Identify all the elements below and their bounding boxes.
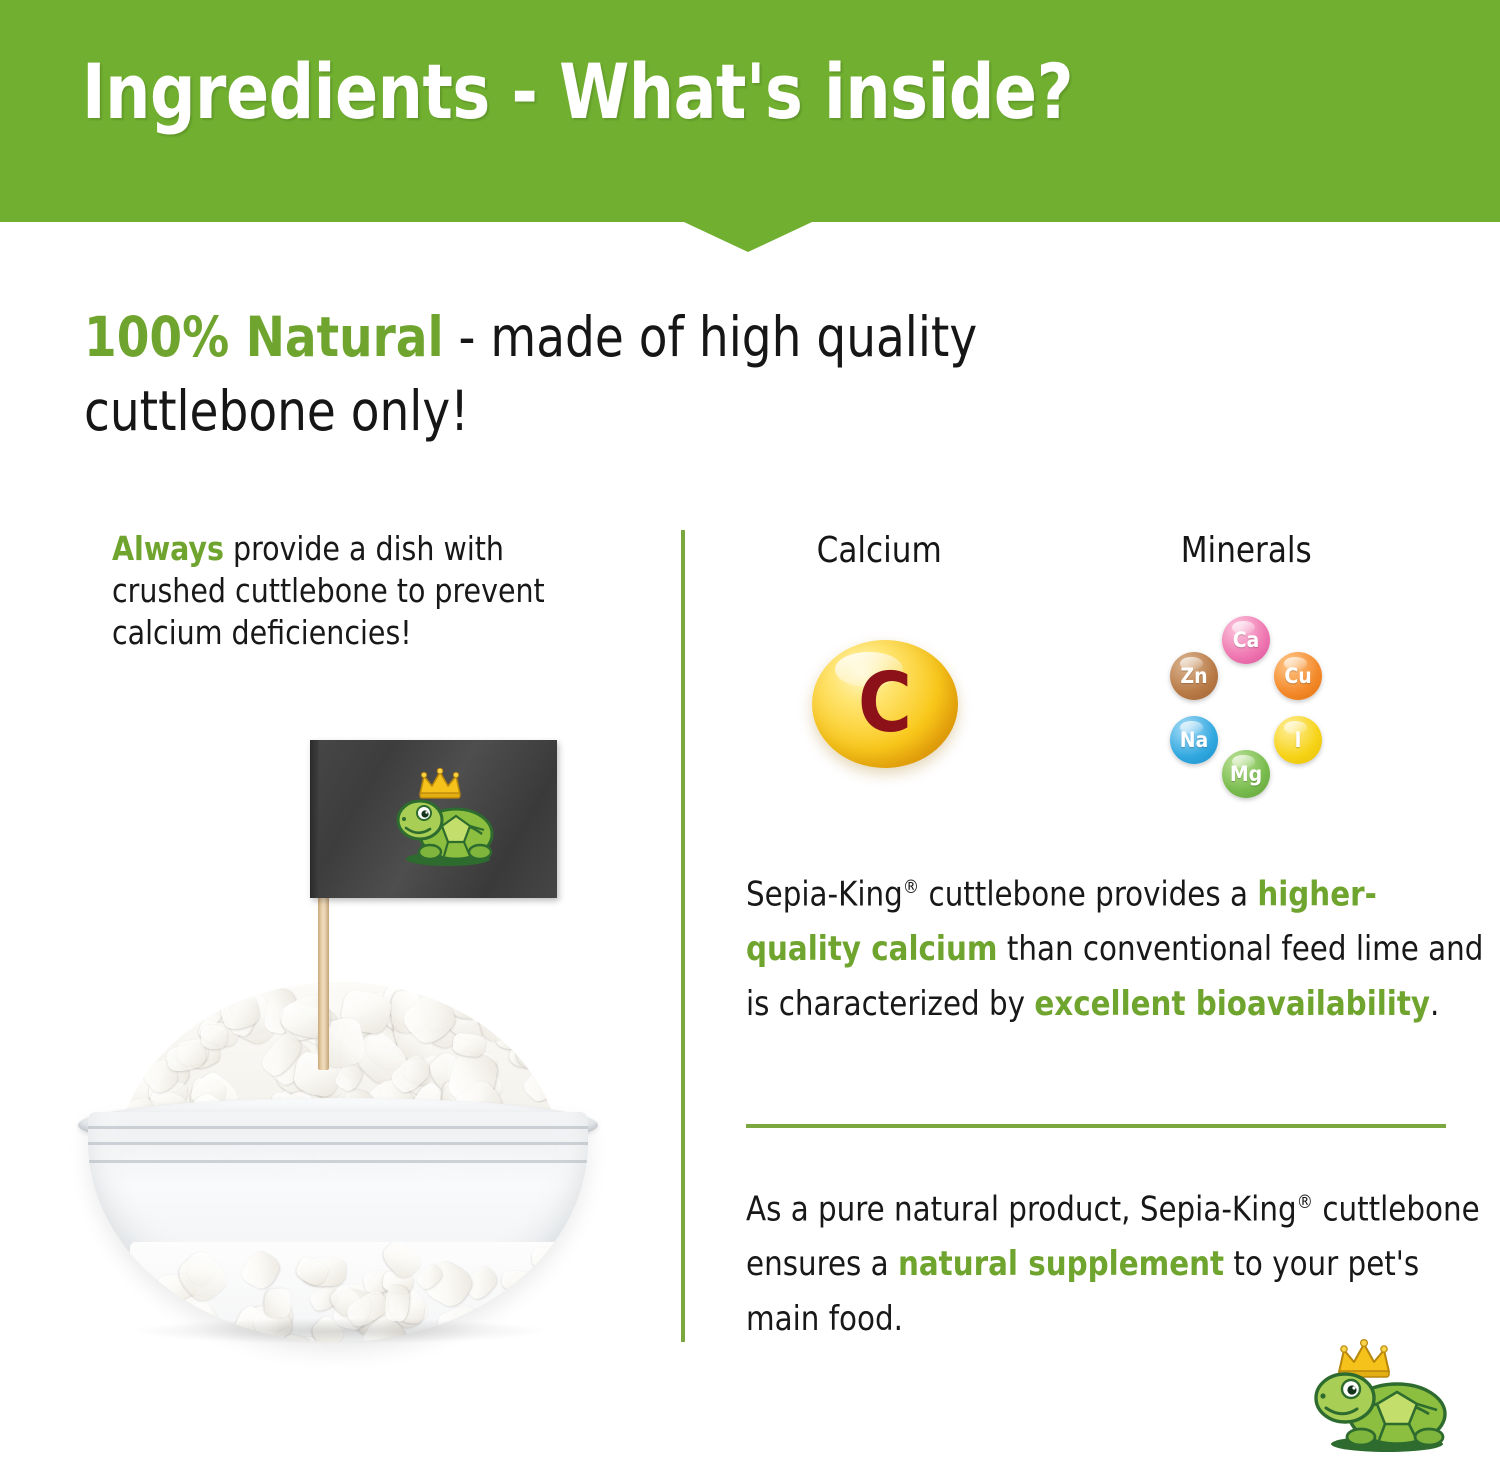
mineral-bubble-mg: Mg (1222, 750, 1270, 798)
calcium-label: Calcium (817, 530, 942, 571)
mineral-bubble-i: I (1274, 716, 1322, 764)
headline-accent: 100% Natural (84, 305, 444, 369)
right-column-divider (746, 1124, 1446, 1128)
column-divider (681, 530, 685, 1342)
mineral-bubble-ca: Ca (1222, 616, 1270, 664)
left-note-text: Always provide a dish with crushed cuttl… (112, 528, 611, 654)
calcium-pill-icon: C (812, 640, 958, 768)
header-banner: Ingredients - What's inside? (0, 0, 1500, 222)
header-notch-triangle (684, 222, 812, 252)
bowl-glass (88, 1112, 588, 1342)
right-column: Calcium Minerals C Ca Zn Cu Na I Mg Sepi… (716, 520, 1476, 810)
bowl-shadow (130, 1318, 550, 1344)
para-quality-part4: . (1430, 984, 1439, 1024)
flag-turtle-icon (390, 764, 500, 872)
left-column: Always provide a dish with crushed cuttl… (112, 528, 632, 654)
left-note-accent: Always (112, 529, 224, 568)
brand-flag (310, 740, 557, 898)
registered-mark: ® (1297, 1191, 1313, 1213)
mineral-bubble-zn: Zn (1170, 652, 1218, 700)
headline: 100% Natural - made of high quality cutt… (84, 300, 1167, 448)
para-supp-part1: As a pure natural product, Sepia-King (746, 1189, 1297, 1229)
para-quality-part2: cuttlebone provides a (919, 874, 1257, 914)
minerals-cluster: Ca Zn Cu Na I Mg (1146, 616, 1366, 796)
registered-mark: ® (903, 876, 919, 898)
calcium-pill-letter: C (858, 663, 912, 745)
para-supp-accent1: natural supplement (898, 1244, 1224, 1284)
para-quality-part1: Sepia-King (746, 874, 903, 914)
nutrient-icon-headers: Calcium Minerals C Ca Zn Cu Na I Mg (716, 520, 1476, 810)
cuttlebone-bowl (70, 980, 610, 1345)
paragraph-quality: Sepia-King® cuttlebone provides a higher… (746, 860, 1485, 1032)
para-quality-accent2: excellent bioavailability (1034, 984, 1430, 1024)
paragraph-supplement: As a pure natural product, Sepia-King® c… (746, 1175, 1485, 1347)
mineral-bubble-na: Na (1170, 716, 1218, 764)
mineral-bubble-cu: Cu (1274, 652, 1322, 700)
minerals-label: Minerals (1181, 530, 1312, 571)
brand-logo-turtle-icon (1305, 1338, 1457, 1456)
page-title: Ingredients - What's inside? (82, 50, 1291, 134)
